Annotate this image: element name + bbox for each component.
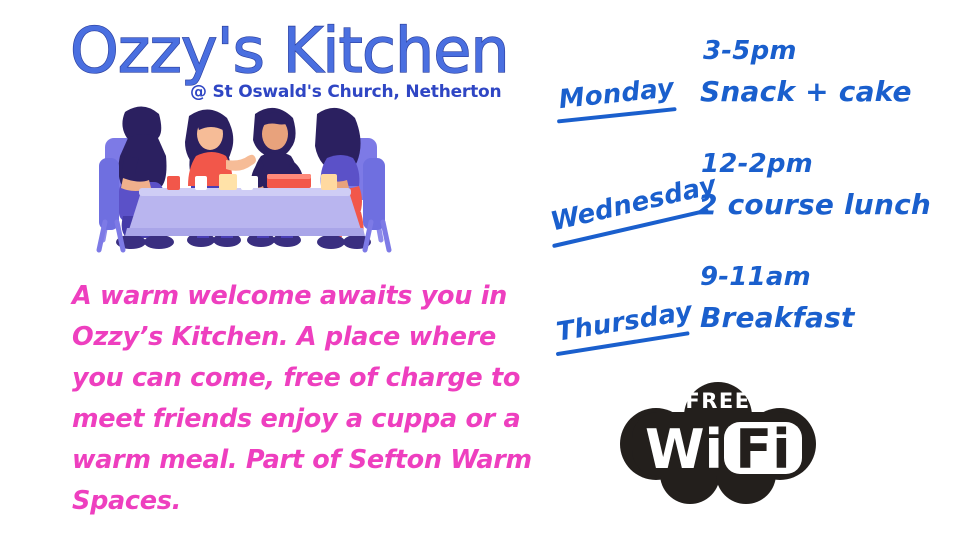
schedule-time-thursday: 9-11am xyxy=(700,262,811,292)
logo-title: Ozzy's Kitchen xyxy=(70,18,509,83)
people-dining-illustration xyxy=(95,100,395,255)
poster-canvas: Ozzy's Kitchen @ St Oswald's Church, Net… xyxy=(0,0,960,540)
schedule-row-wednesday: Wednesday 12-2pm 2 course lunch xyxy=(548,145,948,255)
schedule-description-monday: Snack + cake xyxy=(700,75,912,108)
schedule-time-monday: 3-5pm xyxy=(703,36,797,66)
welcome-paragraph: A warm welcome awaits you in Ozzy’s Kitc… xyxy=(72,276,542,522)
schedule-description-thursday: Breakfast xyxy=(700,301,855,334)
free-wifi-icon: FREE Wi Fi xyxy=(612,382,824,504)
schedule-list: Monday 3-5pm Snack + cake Wednesday 12-2… xyxy=(548,30,948,380)
schedule-row-monday: Monday 3-5pm Snack + cake xyxy=(548,30,948,140)
logo-subtitle: @ St Oswald's Church, Netherton xyxy=(190,82,501,102)
day-label-thursday: Thursday xyxy=(554,297,694,348)
wifi-wi-label: Wi xyxy=(645,418,723,481)
wifi-free-label: FREE xyxy=(685,389,750,413)
schedule-time-wednesday: 12-2pm xyxy=(701,149,813,179)
wifi-fi-label: Fi xyxy=(735,418,790,481)
schedule-row-thursday: Thursday 9-11am Breakfast xyxy=(548,260,948,370)
schedule-description-wednesday: 2 course lunch xyxy=(698,188,931,221)
brand-logo: Ozzy's Kitchen @ St Oswald's Church, Net… xyxy=(60,18,480,110)
